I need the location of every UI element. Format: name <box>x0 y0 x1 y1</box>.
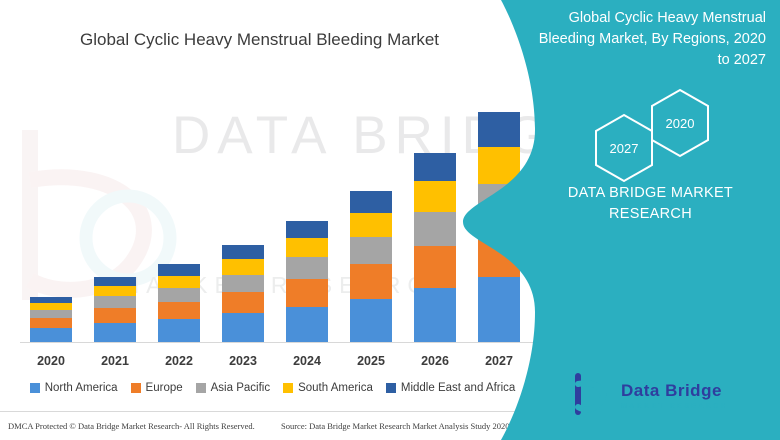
bar-2021[interactable] <box>94 277 136 342</box>
bar-segment <box>94 323 136 342</box>
bar-segment <box>94 308 136 323</box>
bar-segment <box>94 277 136 286</box>
bar-2024[interactable] <box>286 221 328 342</box>
bar-segment <box>414 246 456 288</box>
bar-2020[interactable] <box>30 297 72 342</box>
bar-segment <box>222 275 264 292</box>
x-axis-label-2020: 2020 <box>21 354 81 368</box>
x-axis-label-2025: 2025 <box>341 354 401 368</box>
legend-item[interactable]: Europe <box>131 382 183 394</box>
hex-badge-group: 2027 2020 <box>583 88 733 168</box>
bar-2022[interactable] <box>158 264 200 342</box>
panel-brand-line-2: RESEARCH <box>535 206 766 222</box>
bar-2026[interactable] <box>414 153 456 342</box>
hex-badge-2020-label: 2020 <box>649 88 711 158</box>
panel-curve-shape <box>455 0 535 440</box>
footer-copyright: DMCA Protected © Data Bridge Market Rese… <box>8 421 255 431</box>
brand-logo-main: Data Bridge <box>621 382 728 399</box>
bar-segment <box>286 221 328 238</box>
legend-item[interactable]: South America <box>283 382 373 394</box>
legend-swatch-icon <box>386 383 396 393</box>
brand-logo-sub: MARKET RESEARCH <box>621 403 728 410</box>
bar-segment <box>414 212 456 246</box>
panel-brand-line-1: DATA BRIDGE MARKET <box>535 185 766 201</box>
brand-logo: Data Bridge MARKET RESEARCH <box>570 370 760 422</box>
bar-2025[interactable] <box>350 191 392 342</box>
bar-segment <box>414 288 456 342</box>
bar-segment <box>30 318 72 328</box>
bar-segment <box>286 238 328 257</box>
bar-segment <box>222 313 264 342</box>
bar-segment <box>94 286 136 296</box>
legend-swatch-icon <box>196 383 206 393</box>
legend-swatch-icon <box>283 383 293 393</box>
panel-title: Global Cyclic Heavy Menstrual Bleeding M… <box>535 8 766 71</box>
bar-segment <box>350 299 392 342</box>
bar-segment <box>286 257 328 279</box>
x-axis-label-2021: 2021 <box>85 354 145 368</box>
bar-segment <box>158 319 200 342</box>
legend-label: Europe <box>146 382 183 394</box>
bar-segment <box>30 310 72 318</box>
legend-item[interactable]: Asia Pacific <box>196 382 270 394</box>
bar-segment <box>222 245 264 259</box>
hex-badge-2020: 2020 <box>649 88 711 158</box>
bar-segment <box>350 264 392 298</box>
bar-2023[interactable] <box>222 245 264 342</box>
legend-swatch-icon <box>30 383 40 393</box>
bridge-mark-icon <box>570 372 612 421</box>
bar-segment <box>158 264 200 275</box>
bar-segment <box>286 307 328 342</box>
bar-segment <box>30 303 72 310</box>
x-axis-label-2022: 2022 <box>149 354 209 368</box>
bar-segment <box>286 279 328 306</box>
bar-segment <box>158 302 200 319</box>
hex-badge-2027-label: 2027 <box>593 113 655 183</box>
bar-segment <box>222 259 264 275</box>
bar-segment <box>222 292 264 314</box>
x-axis-label-2024: 2024 <box>277 354 337 368</box>
legend-item[interactable]: North America <box>30 382 118 394</box>
x-axis-label-2023: 2023 <box>213 354 273 368</box>
legend-label: South America <box>298 382 373 394</box>
bar-segment <box>350 237 392 264</box>
bar-segment <box>94 296 136 307</box>
bar-segment <box>414 153 456 180</box>
legend-label: Asia Pacific <box>211 382 270 394</box>
bar-segment <box>350 191 392 213</box>
hex-badge-2027: 2027 <box>593 113 655 183</box>
legend-swatch-icon <box>131 383 141 393</box>
bar-segment <box>414 181 456 212</box>
bar-segment <box>158 276 200 289</box>
brand-logo-text: Data Bridge MARKET RESEARCH <box>621 382 728 410</box>
legend-label: North America <box>45 382 118 394</box>
bar-segment <box>350 213 392 237</box>
bar-segment <box>158 288 200 302</box>
bar-segment <box>30 328 72 342</box>
